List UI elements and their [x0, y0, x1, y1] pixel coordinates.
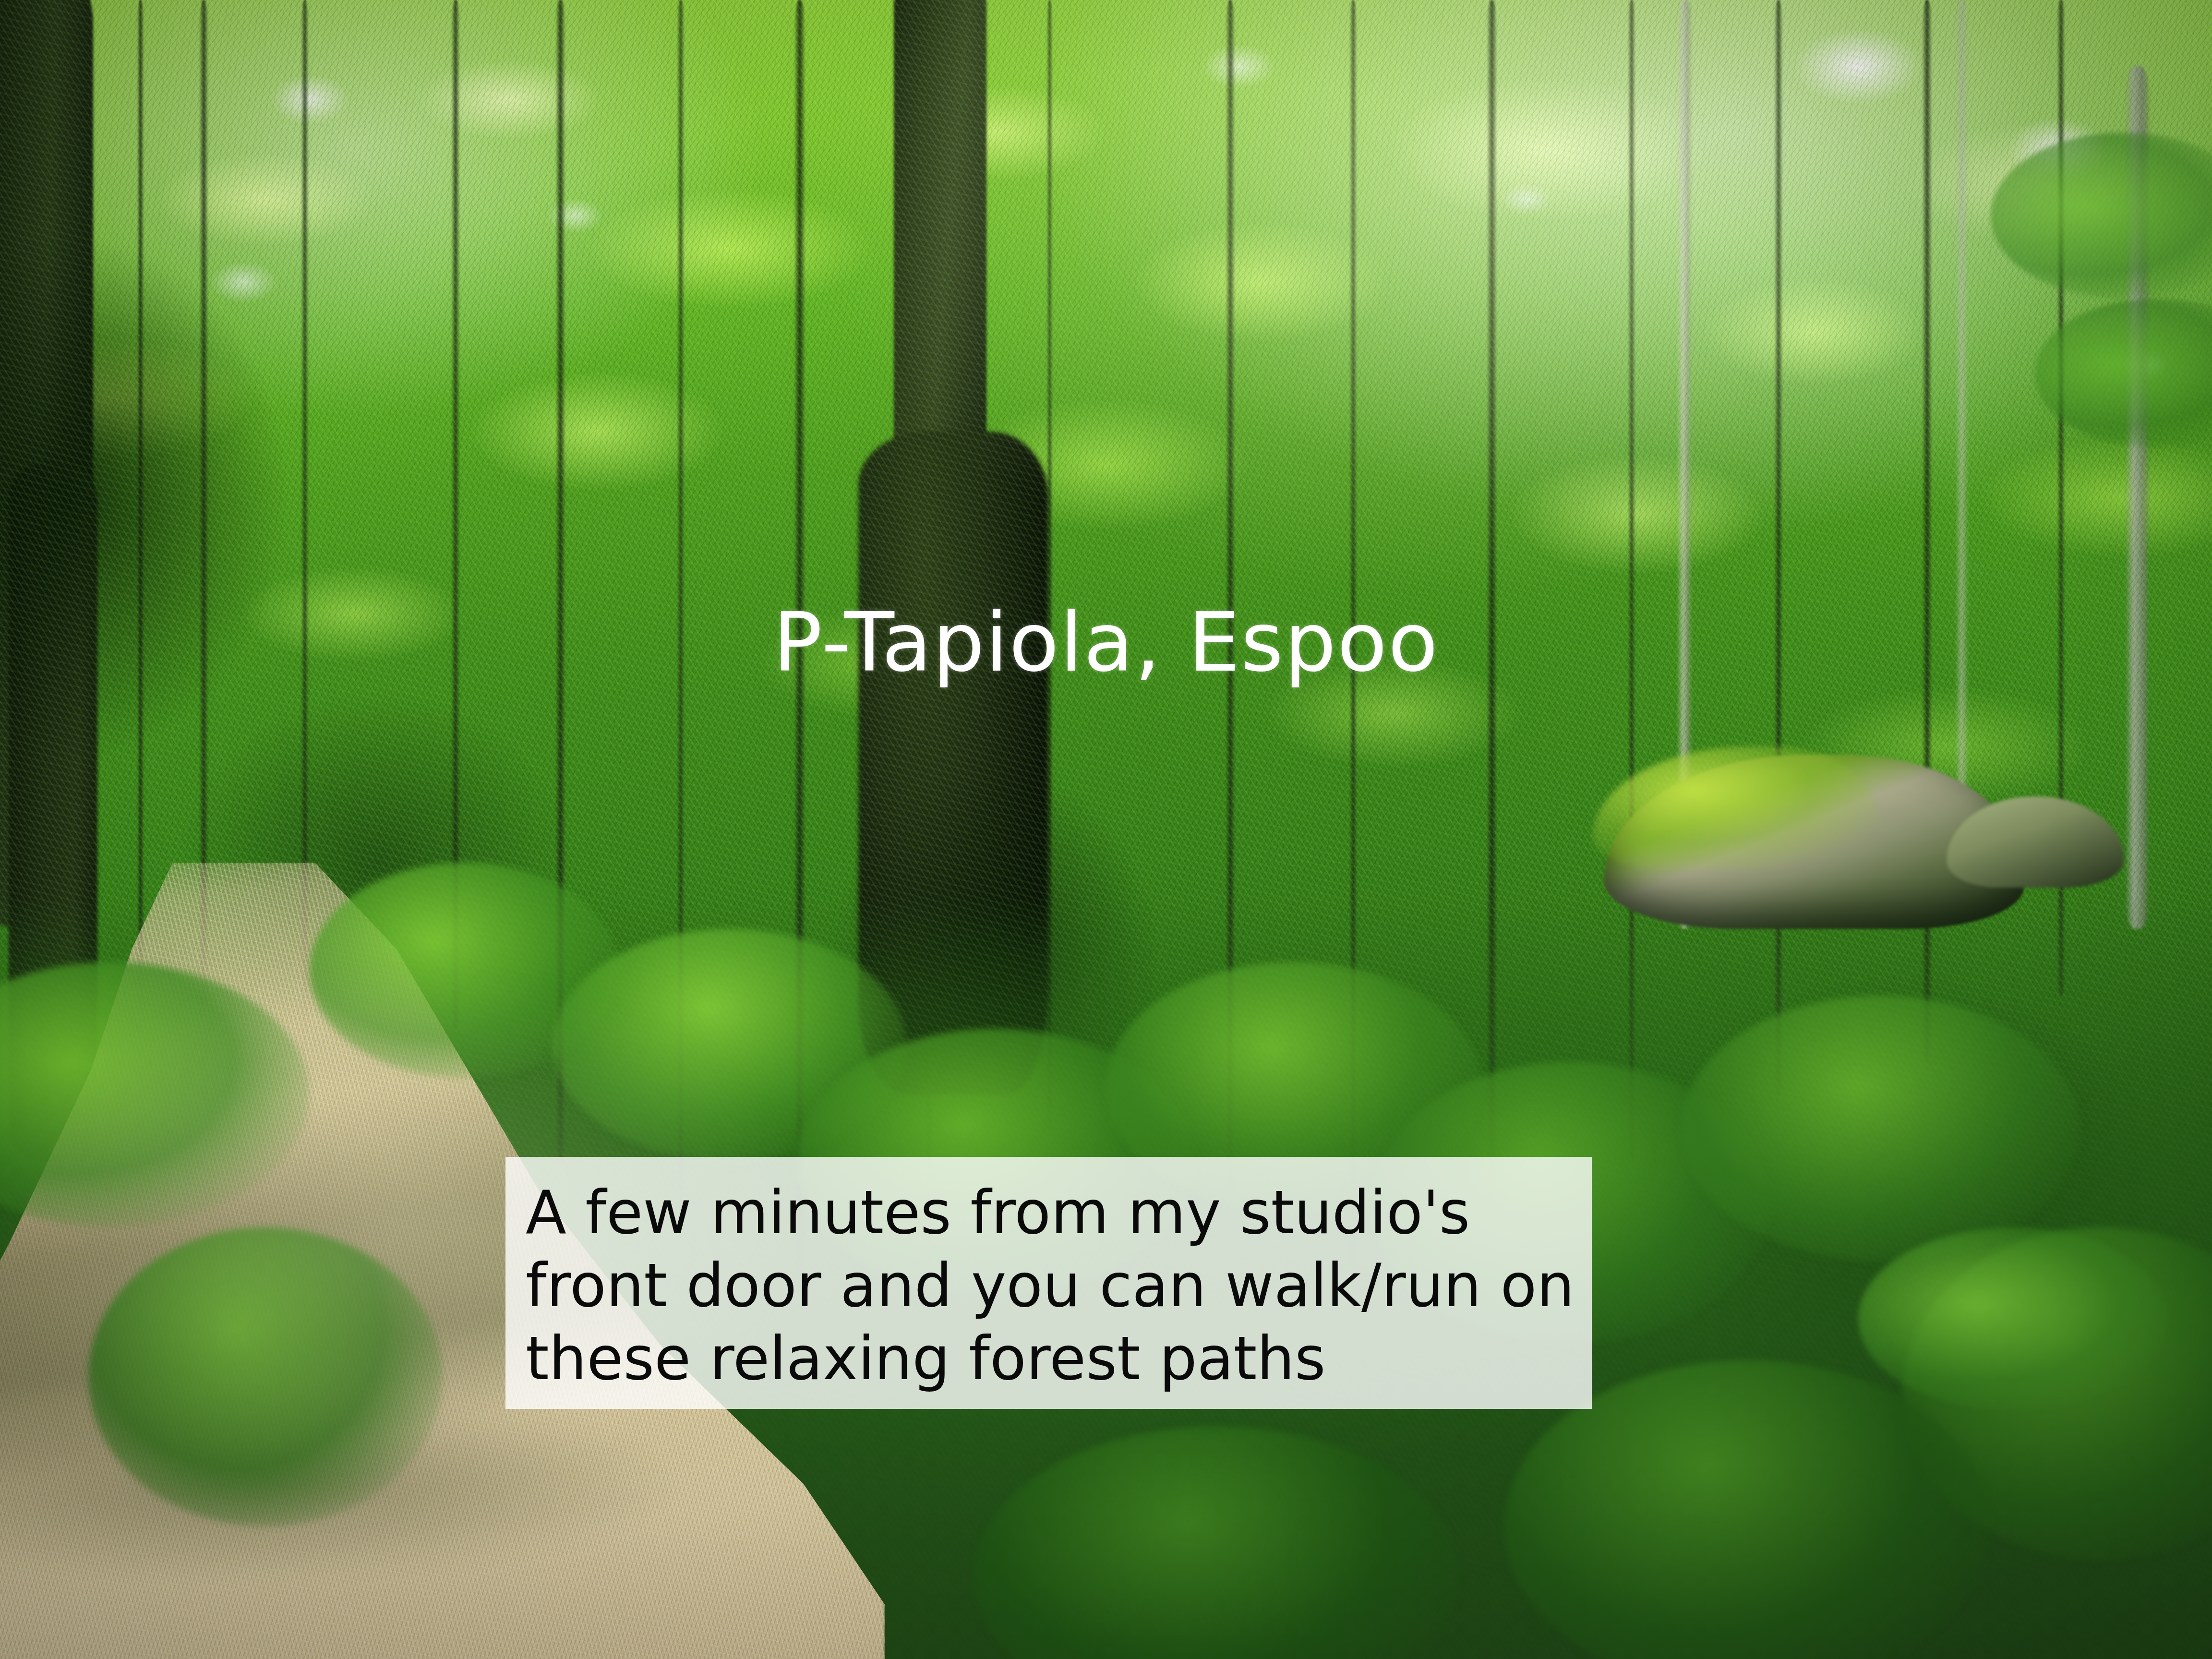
caption-line-2: front door and you can walk/run on	[526, 1249, 1592, 1322]
caption-box: A few minutes from my studio's front doo…	[505, 1157, 1592, 1409]
slide-title: P-Tapiola, Espoo	[0, 601, 2212, 683]
caption-line-1: A few minutes from my studio's	[526, 1176, 1592, 1249]
forest-photo-background	[0, 0, 2212, 1659]
caption-line-3: these relaxing forest paths	[526, 1322, 1592, 1395]
vignette-layer	[0, 0, 2212, 1659]
presentation-slide: P-Tapiola, Espoo A few minutes from my s…	[0, 0, 2212, 1659]
